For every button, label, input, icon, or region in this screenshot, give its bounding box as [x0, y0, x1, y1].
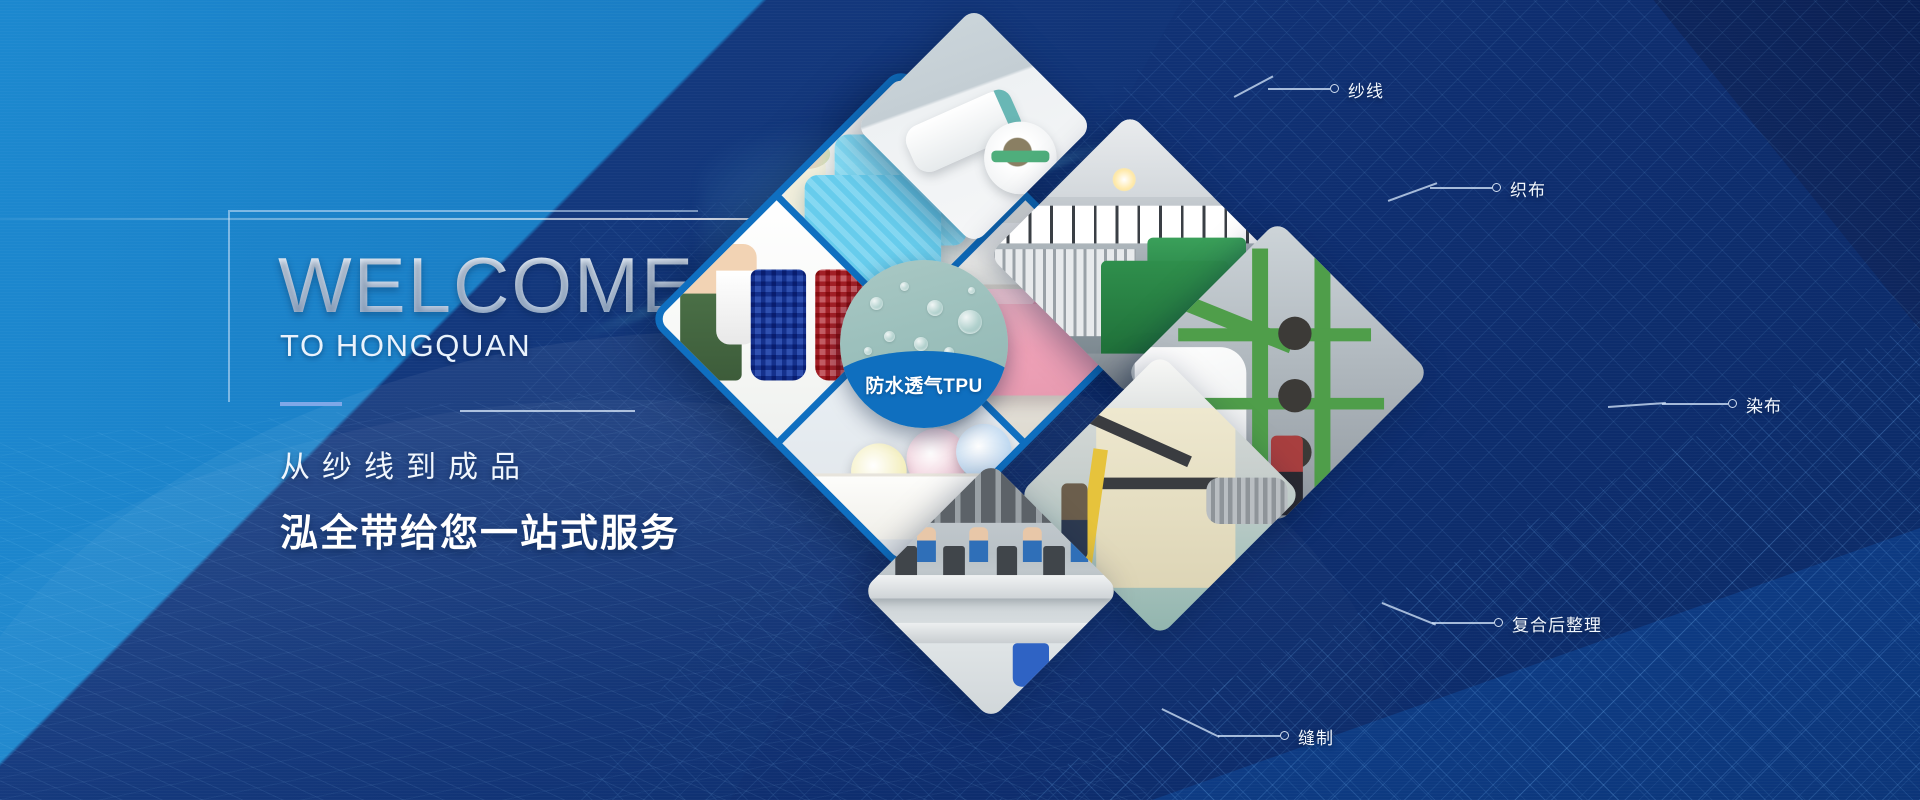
callout-leader-line — [1662, 403, 1728, 405]
callout-label-laminating: 复合后整理 — [1512, 611, 1602, 636]
callout-dot-icon — [1330, 84, 1339, 93]
callout-leader-line — [1268, 88, 1330, 90]
callout-label-sewing: 缝制 — [1298, 724, 1334, 749]
callout-label-yarn: 纱线 — [1348, 77, 1384, 102]
tpu-feature-badge[interactable]: 防水透气TPU — [840, 260, 1008, 428]
callout-leader-line — [1430, 187, 1492, 189]
callout-dot-icon — [1494, 618, 1503, 627]
callout-label-dyeing: 染布 — [1746, 392, 1782, 417]
bottom-accent-rule — [460, 410, 635, 412]
accent-rule — [280, 402, 342, 406]
welcome-banner: WELCOME TO HONGQUAN 从纱线到成品 泓全带给您一站式服务 — [0, 0, 1920, 800]
callout-dot-icon — [1492, 183, 1501, 192]
callout-label-weaving: 织布 — [1510, 176, 1546, 201]
callout-dot-icon — [1728, 399, 1737, 408]
callout-dot-icon — [1280, 731, 1289, 740]
process-diamond-cluster: 防水透气TPU — [700, 0, 1920, 800]
tpu-badge-label: 防水透气TPU — [840, 371, 1008, 398]
callout-leader-line — [1218, 735, 1280, 737]
callout-leader-line — [1432, 622, 1494, 624]
